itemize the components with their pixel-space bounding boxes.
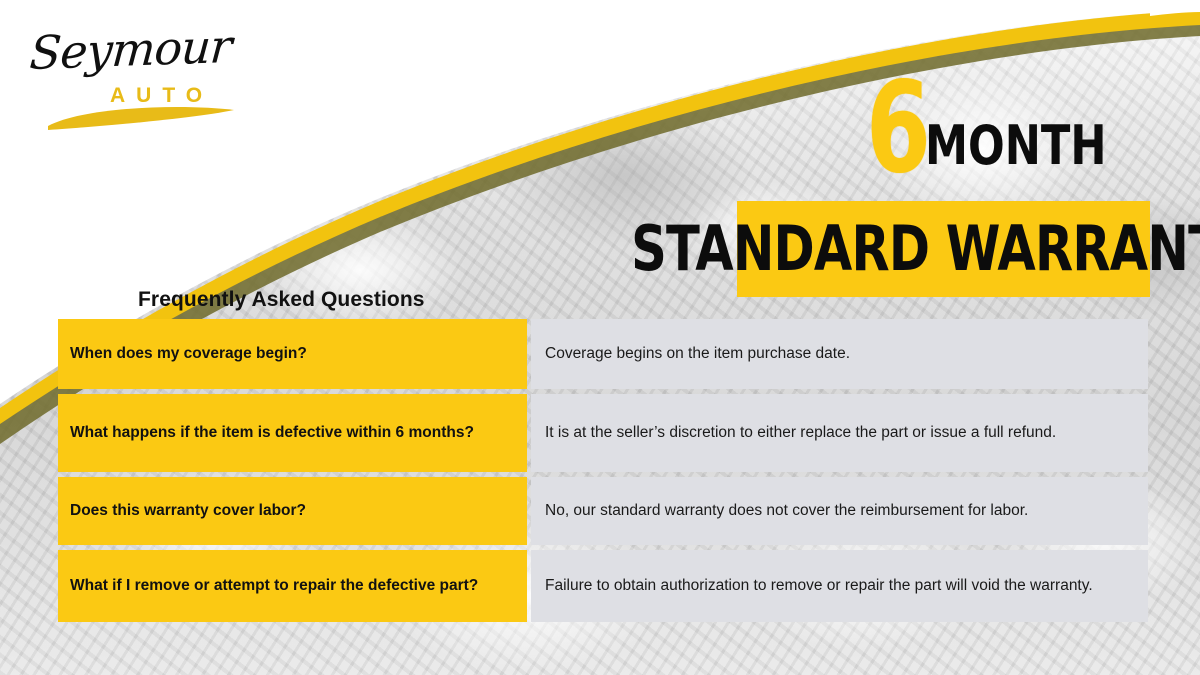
faq-row: What happens if the item is defective wi… [58, 394, 1148, 472]
faq-question: What happens if the item is defective wi… [58, 394, 527, 472]
faq-heading: Frequently Asked Questions [138, 288, 425, 312]
faq-answer: Coverage begins on the item purchase dat… [531, 319, 1148, 389]
faq-table: When does my coverage begin? Coverage be… [58, 319, 1148, 622]
faq-question: Does this warranty cover labor? [58, 477, 527, 545]
warranty-term: 6 MONTH [844, 76, 1152, 179]
faq-question: When does my coverage begin? [58, 319, 527, 389]
standard-warranty-title: STANDARD WARRANTY [631, 218, 1200, 280]
logo-swoosh-icon [46, 104, 236, 132]
faq-row: What if I remove or attempt to repair th… [58, 550, 1148, 622]
logo-script-text: Seymour [28, 19, 233, 80]
faq-answer: It is at the seller’s discretion to eith… [531, 394, 1148, 472]
faq-answer: Failure to obtain authorization to remov… [531, 550, 1148, 622]
faq-row: When does my coverage begin? Coverage be… [58, 319, 1148, 389]
term-number: 6 [866, 76, 929, 179]
standard-warranty-banner: STANDARD WARRANTY [737, 201, 1150, 297]
faq-answer: No, our standard warranty does not cover… [531, 477, 1148, 545]
seymour-auto-logo: Seymour AUTO [22, 22, 252, 132]
warranty-slide: Seymour AUTO 6 MONTH STANDARD WARRANTY F… [0, 0, 1200, 675]
faq-row: Does this warranty cover labor? No, our … [58, 477, 1148, 545]
faq-question: What if I remove or attempt to repair th… [58, 550, 527, 622]
term-unit: MONTH [925, 119, 1107, 179]
